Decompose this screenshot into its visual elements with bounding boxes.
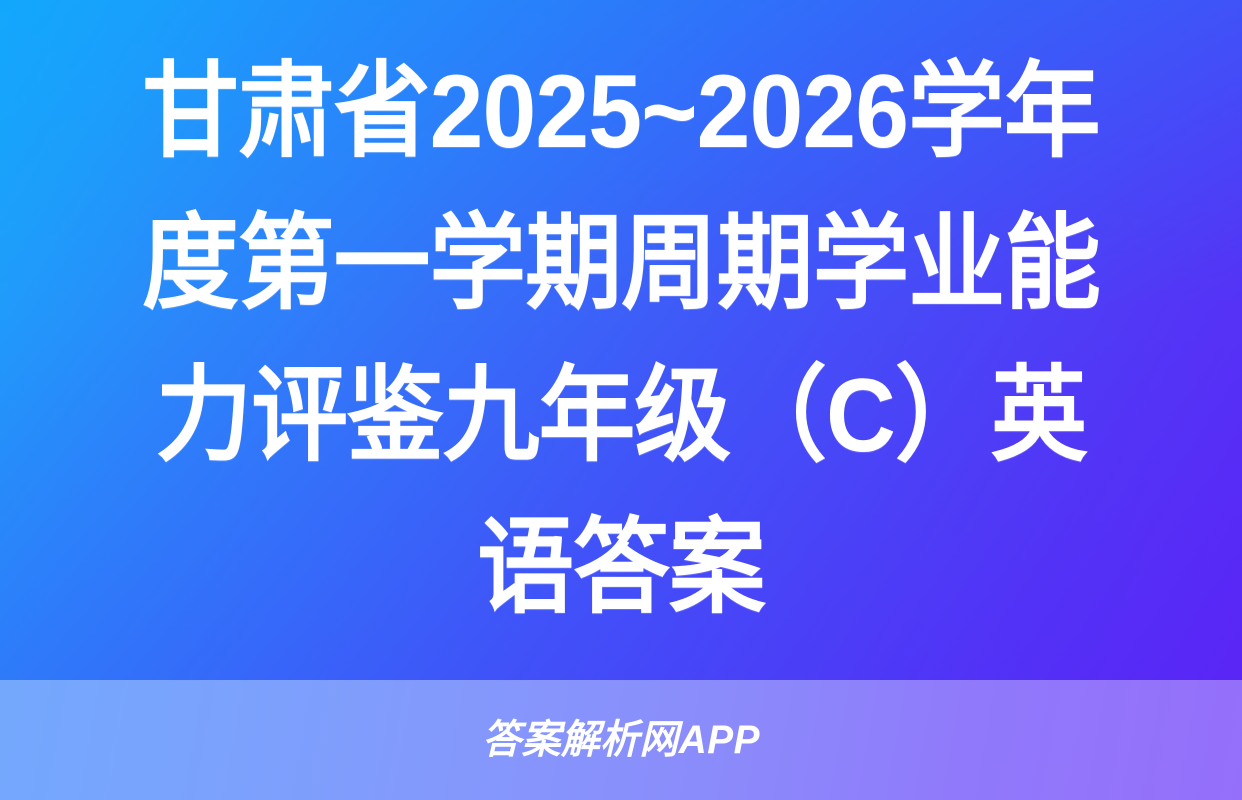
page-title: 甘肃省2025~2026学年度第一学期周期学业能力评鉴九年级（C）英语答案 bbox=[112, 36, 1129, 644]
title-block: 甘肃省2025~2026学年度第一学期周期学业能力评鉴九年级（C）英语答案 bbox=[0, 0, 1242, 680]
watermark-label: 答案解析网APP bbox=[482, 720, 760, 760]
footer-block: 答案解析网APP bbox=[0, 680, 1242, 800]
answer-card: 甘肃省2025~2026学年度第一学期周期学业能力评鉴九年级（C）英语答案 答案… bbox=[0, 0, 1242, 800]
